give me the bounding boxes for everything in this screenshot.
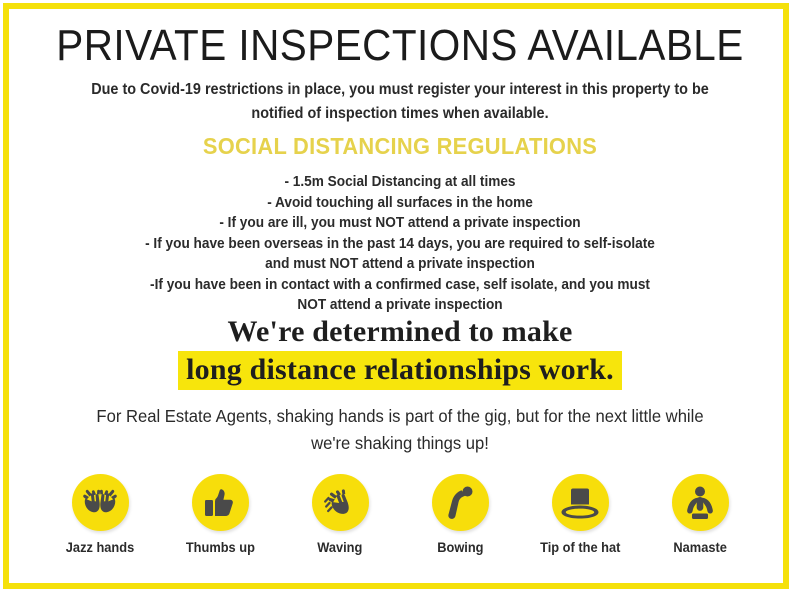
- rule-line: - Avoid touching all surfaces in the hom…: [62, 193, 739, 214]
- page-title: PRIVATE INSPECTIONS AVAILABLE: [32, 21, 768, 71]
- gesture-label: Jazz hands: [66, 540, 134, 556]
- rule-line: - If you have been overseas in the past …: [62, 234, 739, 255]
- headline-line-1: We're determined to make: [0, 315, 800, 349]
- social-distancing-rules-list: - 1.5m Social Distancing at all times - …: [62, 172, 739, 316]
- gesture-icon-row: Jazz hands Thumbs up: [40, 474, 760, 564]
- namaste-icon: [672, 474, 729, 531]
- bowing-person-icon: [432, 474, 489, 531]
- gesture-item-thumbs-up: Thumbs up: [160, 474, 280, 556]
- rule-line: -If you have been in contact with a conf…: [62, 275, 739, 296]
- thumbs-up-icon: [192, 474, 249, 531]
- gesture-label: Bowing: [437, 540, 483, 556]
- gesture-label: Thumbs up: [185, 540, 254, 556]
- gesture-label: Waving: [317, 540, 362, 556]
- headline-line-2-wrapper: long distance relationships work.: [0, 351, 800, 390]
- covid-inspection-poster: PRIVATE INSPECTIONS AVAILABLE Due to Cov…: [0, 0, 800, 600]
- headline-line-2-highlighted: long distance relationships work.: [178, 351, 622, 390]
- section-heading: SOCIAL DISTANCING REGULATIONS: [20, 131, 780, 161]
- jazz-hands-icon: [72, 474, 129, 531]
- top-hat-icon: [552, 474, 609, 531]
- waving-hand-icon: [312, 474, 369, 531]
- gesture-label: Namaste: [673, 540, 726, 556]
- gesture-item-waving: Waving: [280, 474, 400, 556]
- gesture-item-bowing: Bowing: [400, 474, 520, 556]
- rule-line: - 1.5m Social Distancing at all times: [62, 172, 739, 193]
- headline-block: We're determined to make long distance r…: [0, 315, 800, 390]
- rule-line: NOT attend a private inspection: [62, 295, 739, 316]
- gesture-item-jazz-hands: Jazz hands: [40, 474, 160, 556]
- rule-line: and must NOT attend a private inspection: [62, 254, 739, 275]
- gesture-label: Tip of the hat: [540, 540, 620, 556]
- rule-line: - If you are ill, you must NOT attend a …: [62, 213, 739, 234]
- intro-paragraph: Due to Covid-19 restrictions in place, y…: [76, 78, 723, 126]
- closing-paragraph: For Real Estate Agents, shaking hands is…: [87, 403, 714, 457]
- gesture-item-tip-of-the-hat: Tip of the hat: [520, 474, 640, 556]
- gesture-item-namaste: Namaste: [640, 474, 760, 556]
